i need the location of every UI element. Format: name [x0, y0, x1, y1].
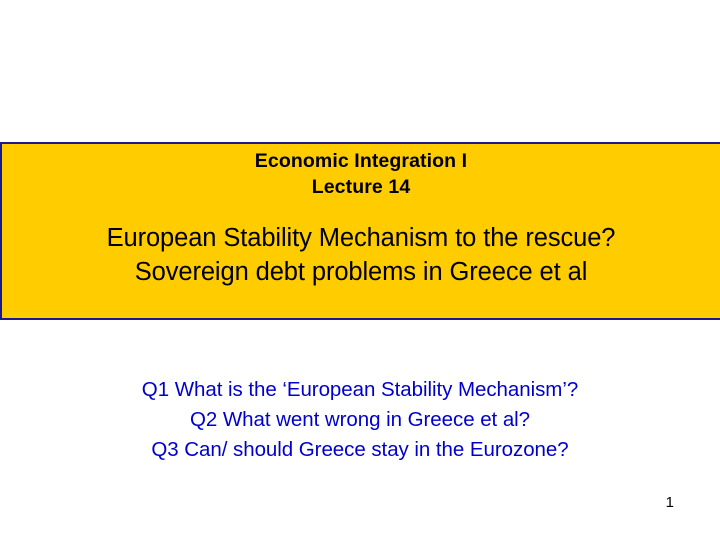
- page-number: 1: [666, 494, 674, 512]
- lecture-number: Lecture 14: [2, 174, 720, 200]
- slide-subtitle-line-1: European Stability Mechanism to the resc…: [2, 221, 720, 255]
- question-list: Q1 What is the ‘European Stability Mecha…: [0, 375, 720, 465]
- question-item-q3: Q3 Can/ should Greece stay in the Eurozo…: [151, 435, 568, 465]
- title-banner: Economic Integration I Lecture 14 Europe…: [0, 142, 720, 320]
- slide-subtitle-line-2: Sovereign debt problems in Greece et al: [2, 255, 720, 289]
- course-title: Economic Integration I: [2, 148, 720, 174]
- question-item-q1: Q1 What is the ‘European Stability Mecha…: [142, 375, 578, 405]
- question-item-q2: Q2 What went wrong in Greece et al?: [190, 405, 530, 435]
- presentation-slide: Economic Integration I Lecture 14 Europe…: [0, 0, 720, 540]
